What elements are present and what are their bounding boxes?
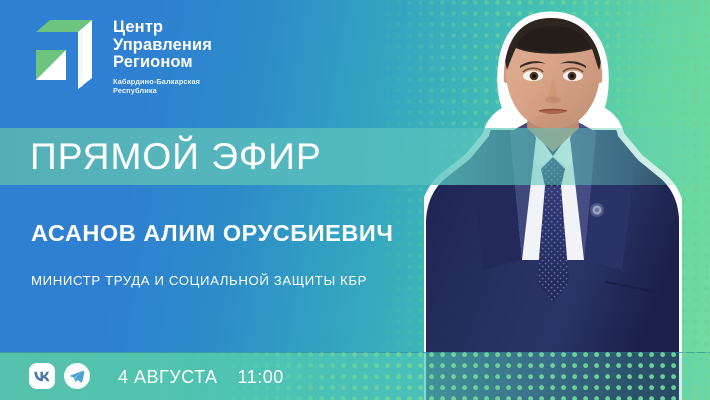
live-broadcast-announcement-card: Центр Управления Регионом Кабардино-Балк… bbox=[0, 0, 710, 400]
cur-isometric-cube-icon bbox=[30, 16, 102, 96]
telegram-icon[interactable] bbox=[64, 363, 90, 389]
portrait-illustration bbox=[424, 10, 682, 400]
guest-name: АСАНОВ АЛИМ ОРУСБИЕВИЧ bbox=[31, 219, 393, 247]
brand-title-line-1: Центр bbox=[113, 19, 212, 37]
live-label: ПРЯМОЙ ЭФИР bbox=[30, 134, 322, 179]
brand-subtitle-line-2: Республика bbox=[113, 86, 212, 95]
guest-role: МИНИСТР ТРУДА И СОЦИАЛЬНОЙ ЗАЩИТЫ КБР bbox=[31, 272, 367, 289]
brand-wordmark: Центр Управления Регионом Кабардино-Балк… bbox=[113, 16, 212, 95]
brand-title-line-3: Регионом bbox=[113, 54, 212, 72]
footer-bar bbox=[0, 352, 710, 400]
brand-subtitle-line-1: Кабардино-Балкарская bbox=[113, 77, 212, 86]
vk-icon[interactable] bbox=[29, 363, 55, 389]
broadcast-time: 11:00 bbox=[238, 367, 284, 388]
schedule: 4 АВГУСТА 11:00 bbox=[118, 367, 284, 388]
guest-portrait bbox=[424, 10, 682, 400]
broadcast-date: 4 АВГУСТА bbox=[118, 367, 218, 388]
brand-logo: Центр Управления Регионом Кабардино-Балк… bbox=[30, 16, 212, 96]
brand-title-line-2: Управления bbox=[113, 37, 212, 55]
social-links bbox=[29, 363, 90, 389]
